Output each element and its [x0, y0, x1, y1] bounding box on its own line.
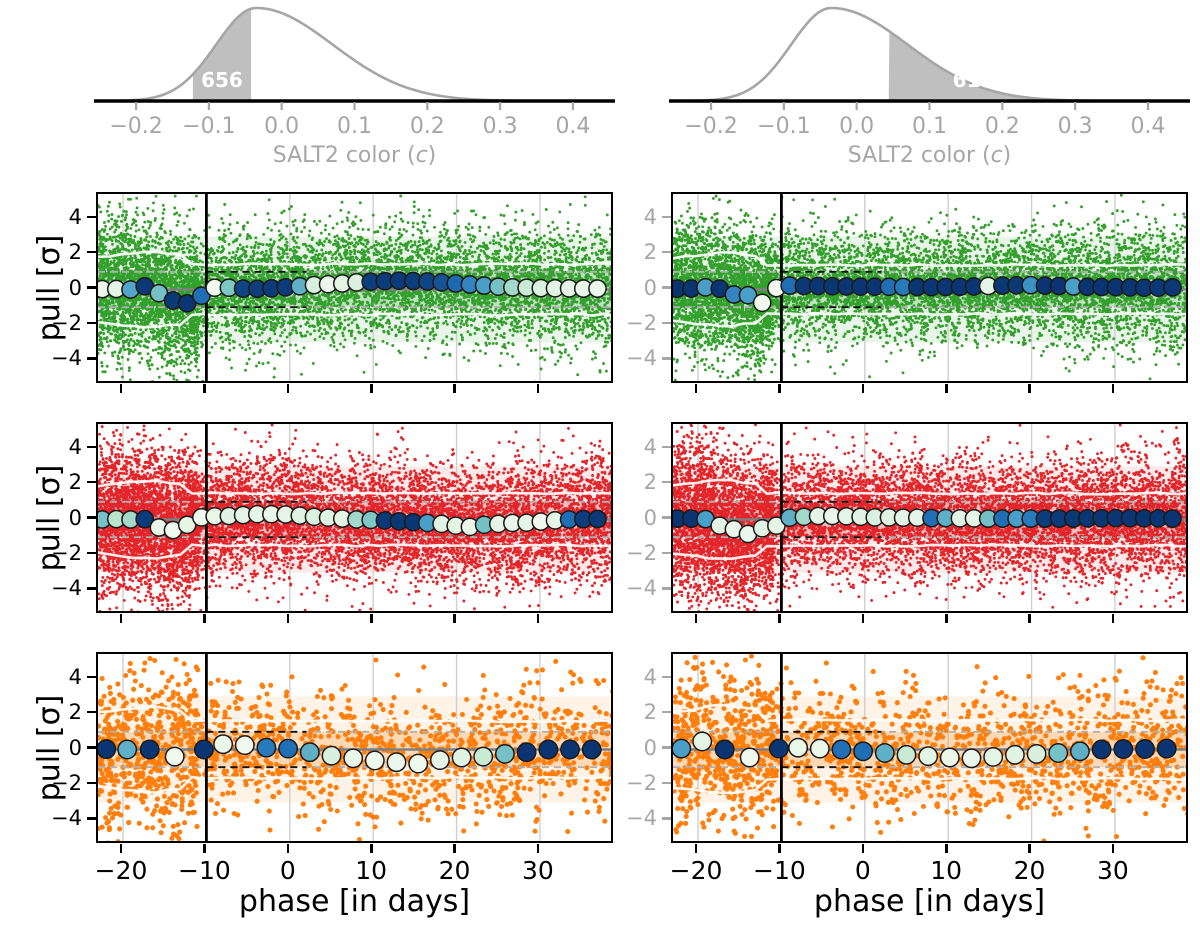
ytick-mark — [662, 711, 671, 713]
ytick-mark — [662, 357, 671, 359]
histogram-curve — [96, 8, 613, 101]
median-marker — [754, 294, 771, 311]
median-marker — [257, 739, 275, 757]
histogram-xtick-label: −0.1 — [182, 114, 235, 139]
xtick-label: 20 — [439, 856, 471, 885]
ytick-mark — [662, 481, 671, 483]
histogram-xtick-label: 0.1 — [912, 114, 947, 139]
xtick-label: −10 — [178, 856, 231, 885]
histogram-xtick-label: 0.4 — [1130, 114, 1165, 139]
xtick-mark — [537, 614, 540, 623]
ytick-label: 0 — [69, 276, 82, 300]
ytick-mark — [87, 516, 96, 518]
ytick-mark — [87, 676, 96, 678]
median-marker — [876, 744, 894, 762]
ytick-label: 4 — [644, 435, 657, 459]
median-marker — [1164, 279, 1181, 296]
xtick-mark — [537, 384, 540, 393]
ytick-mark — [662, 322, 671, 324]
histogram-xtick-label: −0.2 — [684, 114, 737, 139]
figure-root: −0.2−0.10.00.10.20.30.4656SALT2 color (c… — [0, 0, 1200, 942]
median-marker — [118, 740, 136, 758]
median-marker — [1092, 740, 1110, 758]
ytick-label: 0 — [644, 276, 657, 300]
histogram-xtick-label: 0.3 — [1058, 114, 1093, 139]
xtick-mark — [1028, 384, 1031, 393]
ytick-label: 2 — [644, 470, 657, 494]
xtick-mark — [120, 614, 123, 623]
median-marker — [854, 742, 872, 760]
ytick-label: −4 — [626, 346, 657, 370]
ytick-label: −4 — [51, 576, 82, 600]
ytick-mark — [662, 746, 671, 748]
histogram-count-label: 656 — [201, 68, 243, 92]
median-marker — [1071, 742, 1089, 760]
xtick-mark — [862, 844, 865, 853]
xtick-label: 0 — [280, 856, 296, 885]
ytick-mark — [87, 552, 96, 554]
xtick-label: 30 — [522, 856, 554, 885]
xtick-mark — [120, 384, 123, 393]
scatter-panel-r0-c1 — [671, 192, 1188, 383]
ytick-label: 4 — [69, 205, 82, 229]
x-axis-label: phase [in days] — [814, 884, 1045, 919]
median-marker — [716, 740, 734, 758]
xtick-mark — [1028, 614, 1031, 623]
ytick-label: 0 — [69, 736, 82, 760]
median-marker — [279, 739, 297, 757]
scatter-canvas — [98, 424, 613, 613]
median-marker — [1006, 746, 1024, 764]
ytick-label: −4 — [626, 576, 657, 600]
scatter-canvas — [673, 194, 1188, 383]
ytick-mark — [87, 357, 96, 359]
median-marker — [496, 745, 514, 763]
histogram-axis-label: SALT2 color (c) — [848, 143, 1012, 168]
median-marker — [539, 740, 557, 758]
ytick-label: −2 — [626, 311, 657, 335]
ytick-label: 2 — [644, 240, 657, 264]
xtick-mark — [203, 384, 206, 393]
ytick-label: 4 — [644, 205, 657, 229]
histogram-axis-label: SALT2 color (c) — [273, 143, 437, 168]
histogram-xtick-label: 0.0 — [264, 114, 299, 139]
ytick-label: 2 — [644, 700, 657, 724]
ytick-mark — [662, 552, 671, 554]
histogram-xtick-label: 0.2 — [985, 114, 1020, 139]
median-marker — [166, 747, 184, 765]
xtick-mark — [120, 844, 123, 853]
scatter-panel-r1-c1 — [671, 422, 1188, 613]
ytick-label: 0 — [644, 736, 657, 760]
xtick-mark — [862, 614, 865, 623]
ytick-label: 0 — [69, 506, 82, 530]
ytick-label: 2 — [69, 240, 82, 264]
y-axis-label: pull [σ] — [32, 234, 67, 341]
xtick-mark — [778, 844, 781, 853]
xtick-mark — [778, 614, 781, 623]
xtick-mark — [370, 614, 373, 623]
xtick-label: 20 — [1014, 856, 1046, 885]
histogram-count-label: 619 — [953, 68, 995, 92]
median-marker — [236, 736, 254, 754]
histogram-xtick-label: −0.2 — [109, 114, 162, 139]
xtick-mark — [945, 614, 948, 623]
median-marker — [589, 280, 606, 297]
median-marker — [811, 739, 829, 757]
median-marker — [322, 747, 340, 765]
xtick-mark — [1112, 614, 1115, 623]
xtick-mark — [695, 384, 698, 393]
ytick-mark — [87, 216, 96, 218]
median-marker — [195, 740, 213, 758]
ytick-mark — [662, 516, 671, 518]
xtick-label: 10 — [355, 856, 387, 885]
median-marker — [1158, 739, 1176, 757]
ytick-mark — [87, 817, 96, 819]
ytick-mark — [87, 446, 96, 448]
histogram-xtick-label: 0.4 — [555, 114, 590, 139]
ytick-mark — [87, 322, 96, 324]
xtick-label: −20 — [95, 856, 148, 885]
median-marker — [583, 740, 601, 758]
scatter-canvas — [673, 424, 1188, 613]
median-marker — [589, 510, 606, 527]
median-marker — [366, 751, 384, 769]
ytick-mark — [87, 481, 96, 483]
ytick-mark — [87, 782, 96, 784]
median-marker — [741, 748, 759, 766]
xtick-mark — [945, 384, 948, 393]
ytick-mark — [662, 587, 671, 589]
xtick-mark — [537, 844, 540, 853]
xtick-mark — [453, 614, 456, 623]
ytick-label: 0 — [644, 506, 657, 530]
ytick-label: 2 — [69, 470, 82, 494]
histogram-curve — [671, 8, 1188, 101]
ytick-mark — [87, 587, 96, 589]
ytick-label: −4 — [626, 806, 657, 830]
ytick-label: −4 — [51, 806, 82, 830]
median-marker — [474, 747, 492, 765]
ytick-label: 4 — [69, 435, 82, 459]
scatter-canvas — [98, 194, 613, 383]
xtick-mark — [370, 844, 373, 853]
ytick-label: −4 — [51, 346, 82, 370]
xtick-mark — [1112, 844, 1115, 853]
xtick-mark — [370, 384, 373, 393]
y-axis-label: pull [σ] — [32, 694, 67, 801]
median-marker — [1136, 740, 1154, 758]
median-marker — [214, 735, 232, 753]
xtick-mark — [287, 384, 290, 393]
histogram-xtick-label: 0.2 — [410, 114, 445, 139]
ytick-mark — [87, 711, 96, 713]
ytick-label: 4 — [644, 665, 657, 689]
xtick-label: 0 — [855, 856, 871, 885]
median-marker — [301, 743, 319, 761]
xtick-label: −20 — [670, 856, 723, 885]
ytick-mark — [662, 817, 671, 819]
x-axis-label: phase [in days] — [239, 884, 470, 919]
scatter-canvas — [673, 654, 1188, 843]
xtick-mark — [862, 384, 865, 393]
median-marker — [1114, 740, 1132, 758]
median-marker — [141, 740, 159, 758]
xtick-mark — [695, 844, 698, 853]
scatter-panel-r0-c0 — [96, 192, 613, 383]
histogram-panel-right — [0, 0, 1200, 180]
xtick-mark — [453, 384, 456, 393]
ytick-mark — [662, 216, 671, 218]
median-marker — [98, 740, 116, 758]
scatter-canvas — [98, 654, 613, 843]
xtick-label: 10 — [930, 856, 962, 885]
histogram-xtick-label: 0.3 — [483, 114, 518, 139]
ytick-label: 2 — [69, 700, 82, 724]
median-marker — [897, 746, 915, 764]
median-marker — [1049, 744, 1067, 762]
scatter-panel-r2-c0 — [96, 652, 613, 843]
ytick-label: −2 — [626, 541, 657, 565]
xtick-mark — [203, 614, 206, 623]
ytick-mark — [662, 676, 671, 678]
median-marker — [693, 732, 711, 750]
ytick-mark — [662, 286, 671, 288]
ytick-mark — [662, 782, 671, 784]
ytick-mark — [87, 251, 96, 253]
histogram-xtick-label: 0.0 — [839, 114, 874, 139]
ytick-mark — [87, 286, 96, 288]
ytick-label: −2 — [626, 771, 657, 795]
median-marker — [941, 748, 959, 766]
histogram-panel-left — [0, 0, 1200, 180]
ytick-mark — [87, 746, 96, 748]
median-marker — [387, 753, 405, 771]
median-marker — [1164, 510, 1181, 527]
xtick-label: −10 — [753, 856, 806, 885]
median-marker — [431, 751, 449, 769]
median-marker — [517, 743, 535, 761]
xtick-mark — [287, 844, 290, 853]
y-axis-label: pull [σ] — [32, 464, 67, 571]
ytick-mark — [662, 251, 671, 253]
xtick-mark — [1028, 844, 1031, 853]
xtick-mark — [453, 844, 456, 853]
scatter-panel-r1-c0 — [96, 422, 613, 613]
xtick-label: 30 — [1097, 856, 1129, 885]
median-marker — [962, 749, 980, 767]
median-marker — [344, 749, 362, 767]
ytick-label: 4 — [69, 665, 82, 689]
median-marker — [1027, 745, 1045, 763]
median-marker — [452, 748, 470, 766]
median-marker — [409, 754, 427, 772]
xtick-mark — [203, 844, 206, 853]
median-marker — [561, 740, 579, 758]
median-marker — [770, 739, 788, 757]
median-marker — [919, 747, 937, 765]
xtick-mark — [695, 614, 698, 623]
median-marker — [832, 740, 850, 758]
histogram-xtick-label: 0.1 — [337, 114, 372, 139]
histogram-xtick-label: −0.1 — [757, 114, 810, 139]
median-marker — [673, 739, 691, 757]
xtick-mark — [778, 384, 781, 393]
median-marker — [984, 748, 1002, 766]
scatter-panel-r2-c1 — [671, 652, 1188, 843]
median-marker — [789, 739, 807, 757]
xtick-mark — [1112, 384, 1115, 393]
ytick-mark — [662, 446, 671, 448]
xtick-mark — [287, 614, 290, 623]
xtick-mark — [945, 844, 948, 853]
